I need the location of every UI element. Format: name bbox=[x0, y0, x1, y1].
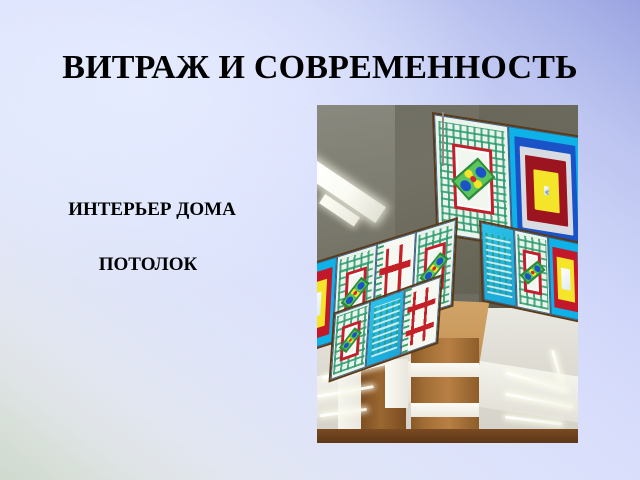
glass-tile-teal bbox=[365, 289, 405, 367]
yellow-center bbox=[561, 268, 571, 291]
glass-tile-meander bbox=[330, 302, 370, 380]
lens-center bbox=[543, 186, 549, 196]
column-wood-main bbox=[411, 338, 479, 443]
glass-tile-yellow bbox=[548, 237, 578, 322]
column-white-mid bbox=[385, 359, 408, 408]
subtitle-ceiling: ПОТОЛОК bbox=[12, 254, 284, 276]
column-band-upper bbox=[411, 363, 479, 377]
presentation-slide: ВИТРАЖ И СОВРЕМЕННОСТЬ ИНТЕРЬЕР ДОМА ПОТ… bbox=[0, 0, 640, 480]
glass-tile-meander bbox=[514, 230, 550, 315]
teal-meander bbox=[370, 298, 400, 358]
column-band-lower bbox=[411, 403, 479, 417]
floor-band bbox=[317, 429, 578, 443]
hook-pattern bbox=[405, 284, 436, 347]
stained-glass-ceiling-photo bbox=[317, 105, 578, 443]
page-title: ВИТРАЖ И СОВРЕМЕННОСТЬ bbox=[0, 50, 640, 86]
glass-tile-hook bbox=[401, 277, 441, 355]
glass-tile-teal bbox=[481, 222, 517, 307]
teal-meander bbox=[485, 232, 512, 298]
photo-content bbox=[317, 105, 578, 443]
ceiling-hanger-rod bbox=[442, 112, 444, 166]
subtitle-interior: ИНТЕРЬЕР ДОМА bbox=[12, 199, 292, 221]
